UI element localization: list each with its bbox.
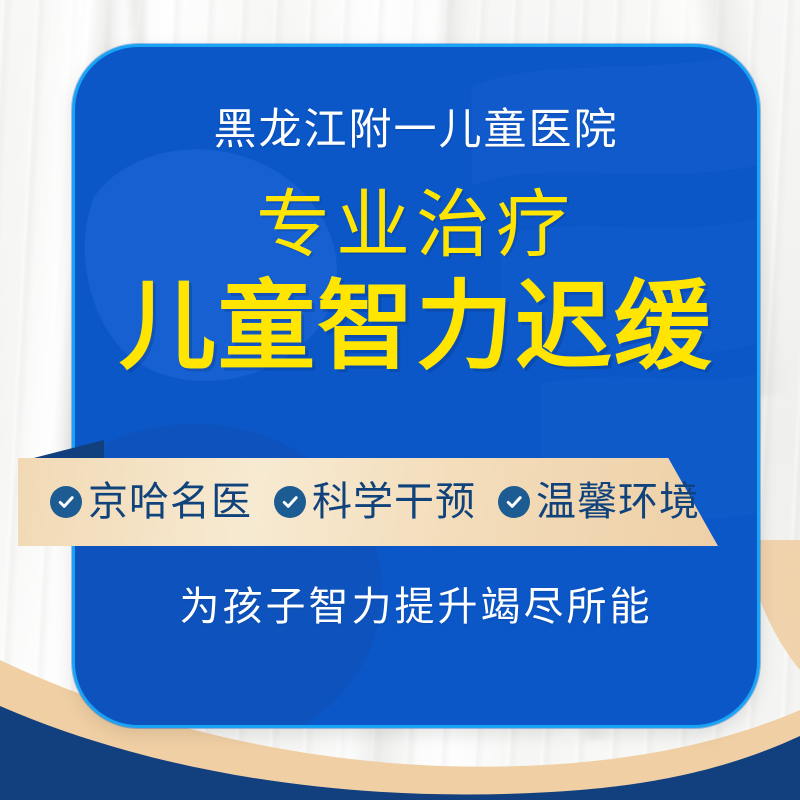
main-blue-card: 黑龙江附一儿童医院 专业治疗 儿童智力迟缓 为孩子智力提升竭尽所能 [72,44,760,728]
check-circle-icon [498,486,530,518]
feature-label: 科学干预 [312,482,476,522]
feature-label: 京哈名医 [88,482,252,522]
feature-ribbon: 京哈名医科学干预温馨环境 [0,440,800,558]
promo-poster: 黑龙江附一儿童医院 专业治疗 儿童智力迟缓 为孩子智力提升竭尽所能 京哈名医科学… [0,0,800,800]
hospital-name: 黑龙江附一儿童医院 [214,109,619,152]
card-text-content: 黑龙江附一儿童医院 专业治疗 儿童智力迟缓 为孩子智力提升竭尽所能 [75,47,757,725]
tagline: 为孩子智力提升竭尽所能 [75,587,757,627]
feature-item: 温馨环境 [498,482,700,522]
feature-item: 科学干预 [274,482,476,522]
headline-subtitle: 专业治疗 [256,188,576,262]
check-circle-icon [274,486,306,518]
check-circle-icon [50,486,82,518]
feature-item: 京哈名医 [50,482,252,522]
feature-label: 温馨环境 [536,482,700,522]
feature-list: 京哈名医科学干预温馨环境 [18,458,718,546]
headline-main: 儿童智力迟缓 [119,276,713,378]
